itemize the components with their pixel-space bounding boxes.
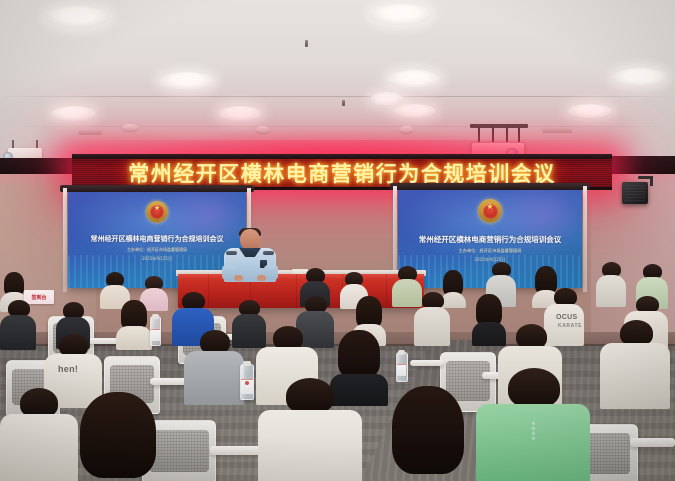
valance-left: [0, 158, 74, 174]
police-emblem: ★: [146, 201, 168, 223]
screen-title: 常州经开区横林电商营销行为合规培训会议: [398, 234, 582, 245]
shirt-graphic-text: OCUS: [556, 314, 577, 321]
ceiling-light: [218, 106, 262, 121]
smoke-detector: [122, 124, 138, 131]
attendee: [116, 300, 152, 348]
ceiling-seam: [0, 96, 675, 97]
officer-epaulette: [263, 251, 274, 255]
pendant-light: [370, 92, 404, 106]
sprinkler-head: [305, 40, 308, 47]
speaker-officer: [222, 229, 278, 281]
tablet-arm-desk: [410, 360, 444, 366]
attendee: ❈❈❈❈: [476, 368, 590, 481]
tablet-arm-desk: [630, 438, 675, 447]
valance-right: [610, 156, 675, 174]
wall-speaker: [614, 176, 658, 206]
smoke-detector: [256, 126, 269, 133]
attendee: [414, 292, 450, 344]
smoke-detector: [400, 126, 413, 133]
attendee: [0, 300, 36, 348]
meeting-room-photo: 常州经开区横林电商营销行为合规培训会议 ★ 常州经开区横林电商营销行为合规培训会…: [0, 0, 675, 481]
officer-hand: [257, 275, 266, 281]
air-vent: [78, 130, 102, 135]
shirt-graphic-text: hen!: [58, 364, 78, 374]
screen-subtitle: 主办单位：经开区市场监督管理局: [68, 247, 246, 253]
water-bottle: [240, 364, 254, 400]
attendee: [380, 386, 476, 481]
attendee: [596, 262, 626, 306]
officer-epaulette: [226, 251, 237, 255]
screen-date: 2025年9月25日: [68, 256, 246, 262]
attendee: [184, 330, 244, 402]
attendee: [600, 320, 670, 406]
officer-arm: [264, 265, 278, 280]
ceiling-light: [46, 6, 110, 28]
ceiling-light: [388, 70, 440, 88]
officer-head: [240, 229, 260, 250]
officer-hand: [234, 275, 243, 281]
ceiling-light: [160, 72, 214, 90]
ceiling-light: [52, 106, 96, 121]
attendee: [0, 388, 78, 481]
water-bottle: [396, 352, 408, 382]
police-emblem: ★: [478, 199, 502, 223]
ceiling-light: [614, 68, 666, 86]
water-bottle: [150, 316, 161, 346]
screen-subtitle: 主办单位：经开区市场监督管理局: [398, 248, 582, 254]
air-vent: [542, 128, 572, 133]
attendee: [258, 378, 362, 481]
attendee: [70, 392, 166, 481]
screen-title: 常州经开区横林电商营销行为合规培训会议: [68, 234, 246, 244]
ceiling-seam: [0, 126, 675, 127]
ceiling-light: [370, 4, 432, 25]
ceiling-light: [568, 104, 612, 118]
ceiling-light: [394, 104, 436, 118]
sprinkler-head: [342, 100, 345, 106]
